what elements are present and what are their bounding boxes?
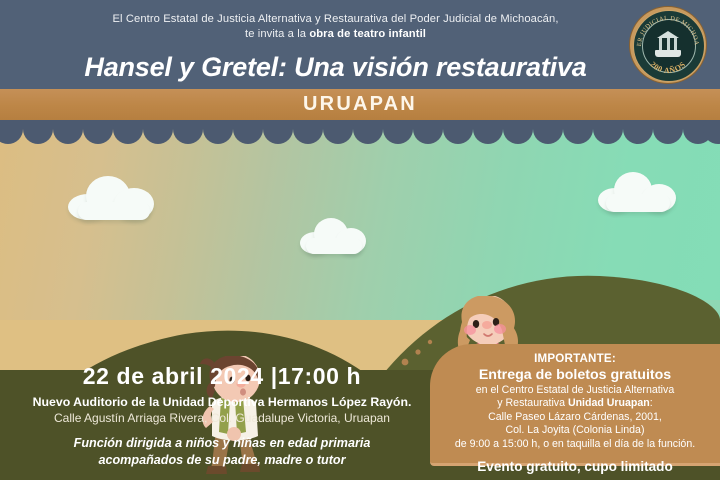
event-details-block: 22 de abril 2024 |17:00 h Nuevo Auditori… bbox=[22, 362, 422, 468]
svg-text:200 AÑOS: 200 AÑOS bbox=[648, 60, 687, 75]
invite-line-1-text: El Centro Estatal de Justicia Alternativ… bbox=[112, 13, 558, 25]
info-line-4: Col. La Joyita (Colonia Linda) bbox=[430, 424, 720, 437]
event-venue: Nuevo Auditorio de la Unidad Deportiva H… bbox=[22, 394, 422, 410]
ticket-info-box: IMPORTANTE: Entrega de boletos gratuitos… bbox=[430, 344, 720, 466]
poder-judicial-seal-icon: PODER JUDICIAL DE MICHOACÁN 200 AÑOS bbox=[630, 7, 706, 83]
info-line-5: de 9:00 a 15:00 h, o en taquilla el día … bbox=[430, 438, 720, 451]
poster-root: El Centro Estatal de Justicia Alternativ… bbox=[0, 0, 720, 480]
info-free-note: Evento gratuito, cupo limitado bbox=[430, 458, 720, 475]
header-text-block: El Centro Estatal de Justicia Alternativ… bbox=[48, 12, 623, 83]
info-line-2-prefix: y Restaurativa bbox=[497, 397, 568, 409]
event-address: Calle Agustín Arriaga Rivera, Col. Guada… bbox=[22, 410, 422, 426]
info-line-3: Calle Paseo Lázaro Cárdenas, 2001, bbox=[430, 411, 720, 424]
info-heading: Entrega de boletos gratuitos bbox=[430, 366, 720, 384]
seal-pediment bbox=[657, 31, 679, 38]
seal-book bbox=[655, 50, 681, 57]
info-line-1: en el Centro Estatal de Justicia Alterna… bbox=[430, 384, 720, 397]
event-audience-line-1: Función dirigida a niños y niñas en edad… bbox=[22, 435, 422, 452]
invite-line-2-bold: obra de teatro infantil bbox=[309, 28, 426, 40]
info-line-2-suffix: : bbox=[650, 397, 653, 409]
seal-bottom-text: 200 AÑOS bbox=[648, 60, 687, 75]
show-title: Hansel y Gretel: Una visión restaurativa bbox=[48, 51, 623, 83]
event-date-time: 22 de abril 2024 |17:00 h bbox=[22, 362, 422, 390]
info-important-label: IMPORTANTE: bbox=[430, 352, 720, 366]
header-bar: El Centro Estatal de Justicia Alternativ… bbox=[0, 0, 720, 89]
invite-line-2: te invita a la obra de teatro infantil bbox=[48, 27, 623, 42]
info-line-2-bold: Unidad Uruapan bbox=[568, 397, 650, 409]
info-line-2: y Restaurativa Unidad Uruapan: bbox=[430, 397, 720, 410]
event-audience: Función dirigida a niños y niñas en edad… bbox=[22, 435, 422, 468]
event-audience-line-2: acompañados de su padre, madre o tutor bbox=[22, 452, 422, 469]
city-label: URUAPAN bbox=[0, 93, 720, 116]
invite-line-1: El Centro Estatal de Justicia Alternativ… bbox=[48, 12, 623, 27]
invite-line-2-prefix: te invita a la bbox=[245, 28, 309, 40]
city-band: URUAPAN bbox=[0, 89, 720, 120]
seal-emblem-icon bbox=[655, 31, 681, 59]
